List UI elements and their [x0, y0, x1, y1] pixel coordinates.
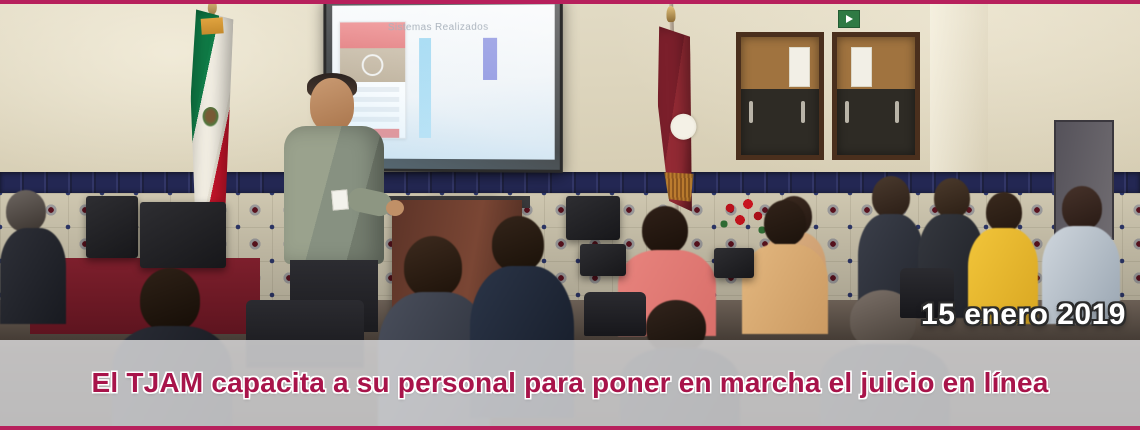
chair [584, 292, 646, 336]
audience-head [492, 216, 544, 272]
notice-paper [789, 47, 810, 87]
monitor [140, 202, 226, 268]
audience-body [0, 228, 66, 324]
monitor [86, 196, 138, 258]
audience-head [872, 176, 910, 218]
audience-head [642, 206, 688, 254]
door-handle [801, 101, 805, 123]
institution-seal-icon [670, 113, 697, 140]
date-overlay: 15 enero 2019 [921, 298, 1126, 332]
flag-institutional [647, 3, 699, 219]
exit-arrow-icon [846, 15, 853, 23]
audience-head [1062, 186, 1102, 230]
flag-fringe [662, 171, 695, 202]
door-handle [845, 101, 849, 123]
top-accent-border [0, 0, 1140, 4]
presenter-name-badge [331, 189, 349, 210]
audience-member [742, 200, 828, 332]
presenter-head [310, 78, 354, 132]
audience-head [986, 192, 1022, 232]
slide-accent-bar-blue [419, 38, 431, 138]
audience-member [0, 190, 66, 322]
bottom-accent-border [0, 426, 1140, 430]
notice-paper [851, 47, 872, 87]
audience-head [140, 268, 200, 332]
audience-head [934, 178, 970, 218]
laptop [580, 244, 626, 276]
audience-body [742, 244, 828, 334]
door-handle [749, 101, 753, 123]
audience-head [404, 236, 462, 298]
slide-accent-bar-purple [483, 38, 497, 80]
glass-door-left [736, 32, 824, 160]
monitor [566, 196, 620, 240]
caption-bar: El TJAM capacita a su personal para pone… [0, 340, 1140, 426]
exit-sign [838, 10, 860, 28]
flag-mexico [182, 1, 236, 232]
door-handle [895, 101, 899, 123]
presenter [276, 78, 394, 328]
audience-head [6, 190, 46, 232]
laptop [714, 248, 754, 278]
audience-head [764, 200, 806, 246]
presenter-hand [386, 200, 404, 216]
news-banner: Sistemas Realizados [0, 0, 1140, 430]
flag-finial-icon [666, 6, 675, 22]
glass-door-right [832, 32, 920, 160]
slide-title: Sistemas Realizados [388, 22, 489, 33]
flag-band [201, 17, 224, 34]
caption-headline: El TJAM capacita a su personal para pone… [92, 367, 1049, 399]
